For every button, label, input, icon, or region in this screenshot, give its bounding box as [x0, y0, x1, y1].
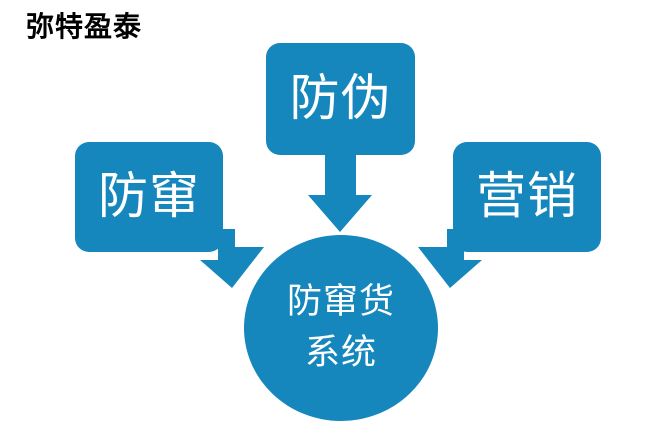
diagram-canvas: 弥特盈泰 防伪 防窜 营销 防窜货 系统	[0, 0, 667, 448]
node-label-top: 防伪	[290, 73, 392, 123]
node-label-right: 营销	[476, 171, 578, 221]
node-box-left[interactable]: 防窜	[75, 142, 223, 252]
arrow-top-to-center	[308, 152, 372, 232]
node-box-right[interactable]: 营销	[453, 142, 601, 252]
node-label-left: 防窜	[98, 171, 200, 221]
center-label-line2: 系统	[305, 328, 377, 379]
node-box-top[interactable]: 防伪	[266, 43, 415, 155]
center-node-circle[interactable]: 防窜货 系统	[244, 235, 438, 421]
center-label-line1: 防窜货	[287, 277, 395, 328]
brand-title: 弥特盈泰	[26, 10, 142, 44]
